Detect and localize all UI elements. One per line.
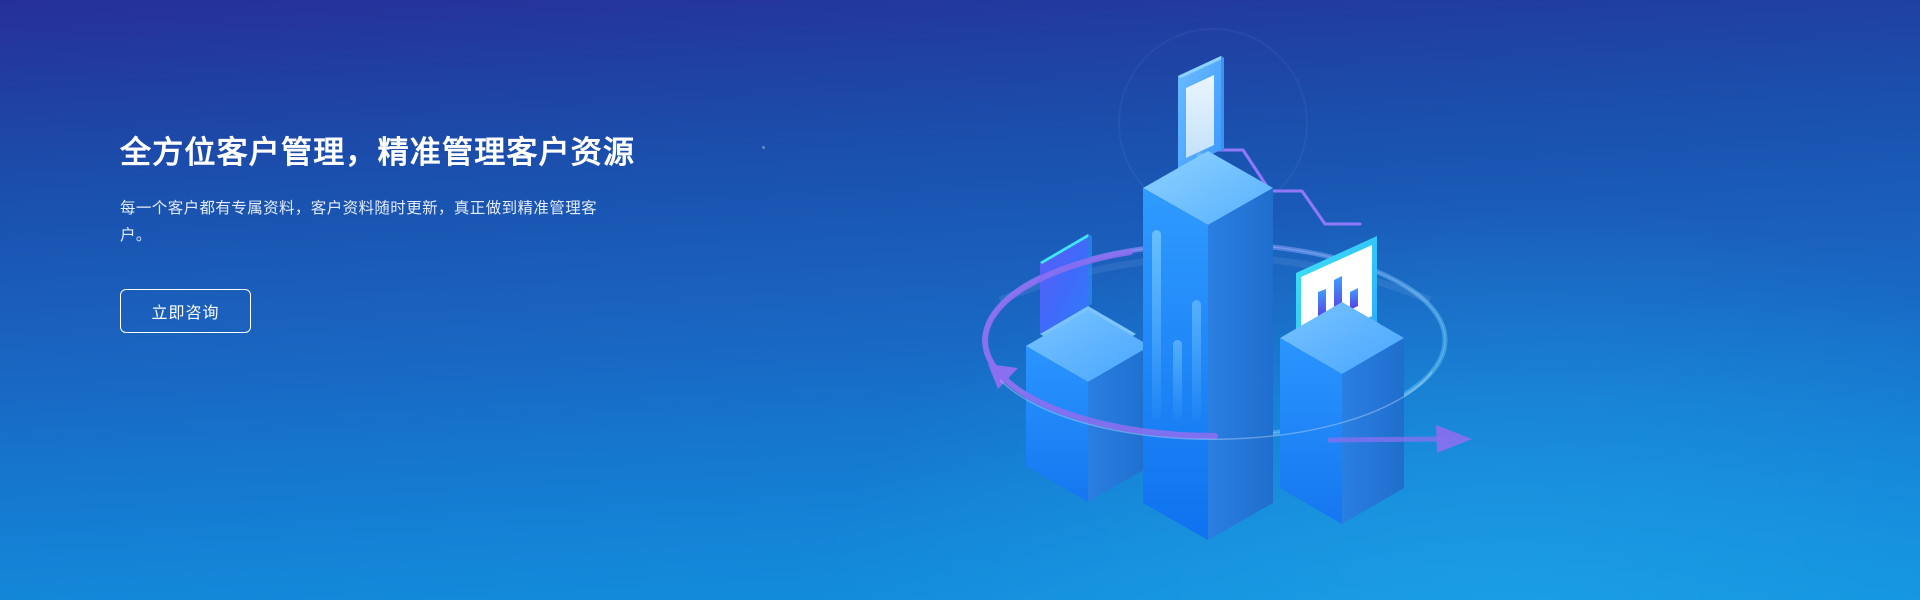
hero-copy-block: 全方位客户管理，精准管理客户资源 每一个客户都有专属资料，客户资料随时更新，真正… xyxy=(120,134,740,333)
page-title: 全方位客户管理，精准管理客户资源 xyxy=(120,134,740,173)
hero-subtitle: 每一个客户都有专属资料，客户资料随时更新，真正做到精准管理客户。 xyxy=(120,195,605,249)
bar-right xyxy=(1280,236,1404,524)
consult-now-button-label: 立即咨询 xyxy=(151,299,219,323)
decorative-dot xyxy=(762,146,765,149)
bar-center xyxy=(1143,56,1273,540)
hero-banner: 全方位客户管理，精准管理客户资源 每一个客户都有专属资料，客户资料随时更新，真正… xyxy=(0,0,1920,600)
tablet-icon xyxy=(1178,56,1224,170)
hero-illustration xyxy=(940,0,1500,600)
consult-now-button[interactable]: 立即咨询 xyxy=(120,289,251,333)
